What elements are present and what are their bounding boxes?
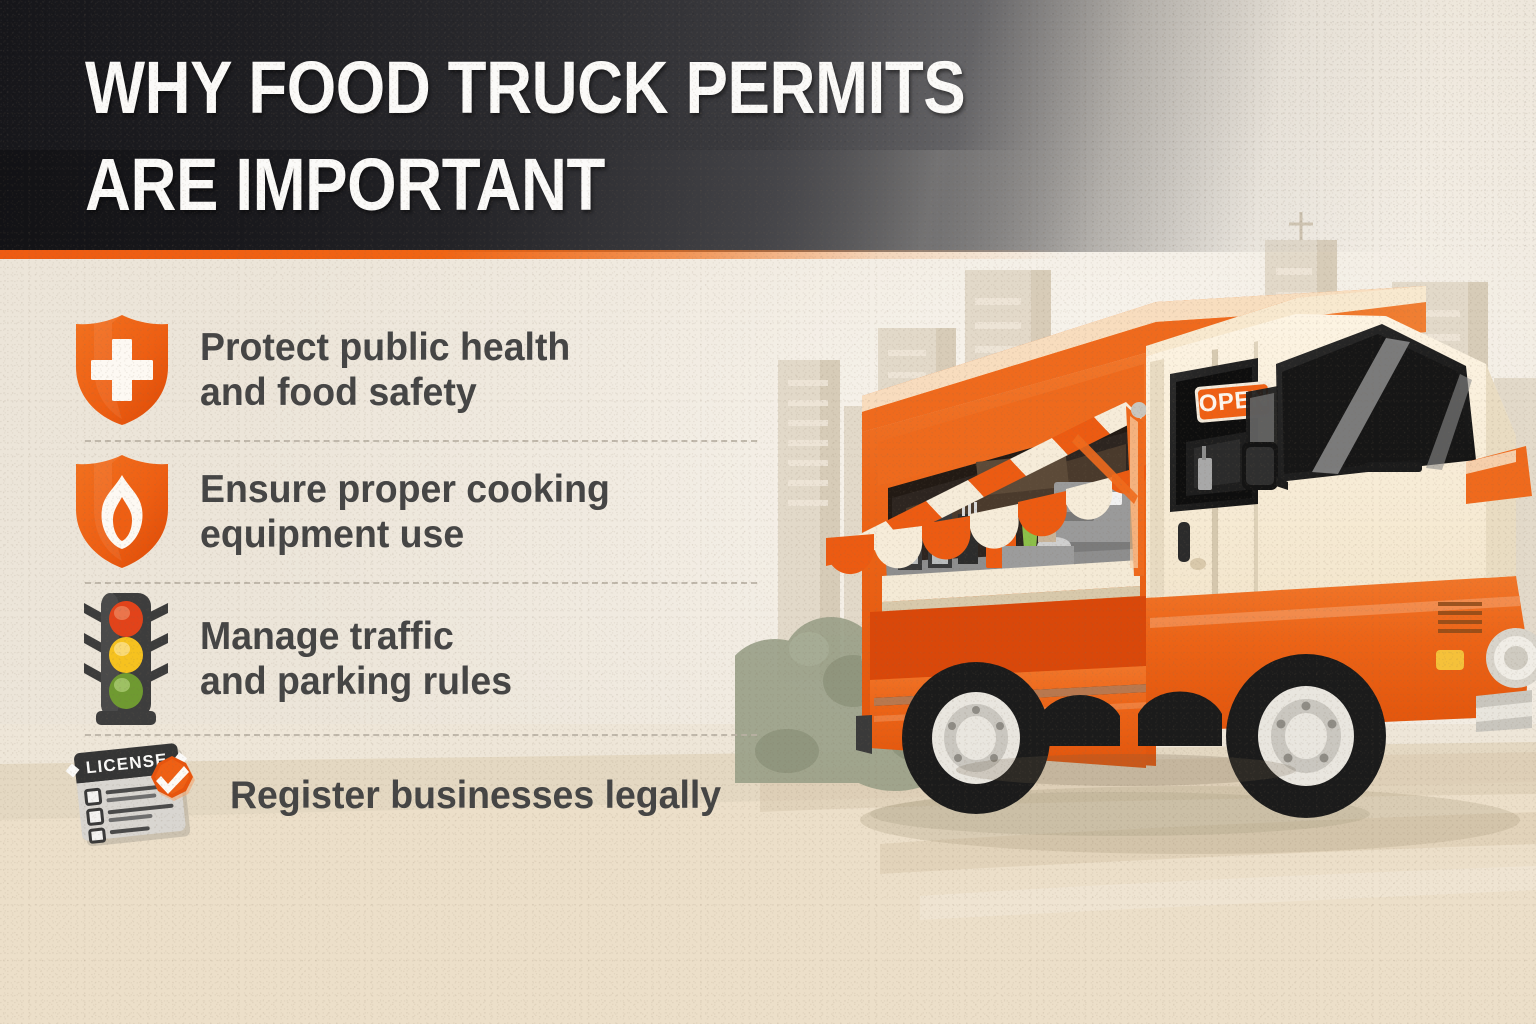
benefit-line-1: Protect public health (200, 325, 570, 370)
food-truck-illustration: OPEN (826, 246, 1536, 836)
infographic-poster: OPEN (0, 0, 1536, 1024)
benefit-item-register-business: ◆ LICENSE ◆ (70, 736, 770, 856)
benefit-line-2: equipment use (200, 512, 610, 557)
shield-flame-icon (70, 451, 174, 573)
benefit-item-cooking-equipment: Ensure proper cooking equipment use (70, 442, 770, 582)
divider-3 (85, 734, 757, 736)
benefit-text-public-health: Protect public health and food safety (200, 325, 570, 415)
header-accent-rule (0, 250, 1100, 259)
benefit-text-cooking-equipment: Ensure proper cooking equipment use (200, 467, 610, 557)
license-check-icon: ◆ LICENSE ◆ (60, 734, 210, 858)
benefit-text-traffic-parking: Manage traffic and parking rules (200, 614, 512, 704)
benefit-item-traffic-parking: Manage traffic and parking rules (70, 584, 770, 734)
traffic-light-icon (82, 587, 174, 731)
benefit-text-register-business: Register businesses legally (230, 773, 721, 818)
benefit-line-1: Ensure proper cooking (200, 467, 610, 512)
shield-cross-icon (70, 311, 174, 429)
benefit-line-2: and food safety (200, 370, 570, 415)
benefit-line-1: Register businesses legally (230, 773, 721, 818)
title-line-2: ARE IMPORTANT (85, 149, 965, 220)
page-title: WHY FOOD TRUCK PERMITS ARE IMPORTANT (85, 52, 1109, 220)
benefits-list: Protect public health and food safety (70, 300, 770, 856)
benefit-item-public-health: Protect public health and food safety (70, 300, 770, 440)
divider-1 (85, 440, 757, 442)
title-line-1: WHY FOOD TRUCK PERMITS (85, 52, 965, 123)
benefit-line-2: and parking rules (200, 659, 512, 704)
divider-2 (85, 582, 757, 584)
benefit-line-1: Manage traffic (200, 614, 512, 659)
